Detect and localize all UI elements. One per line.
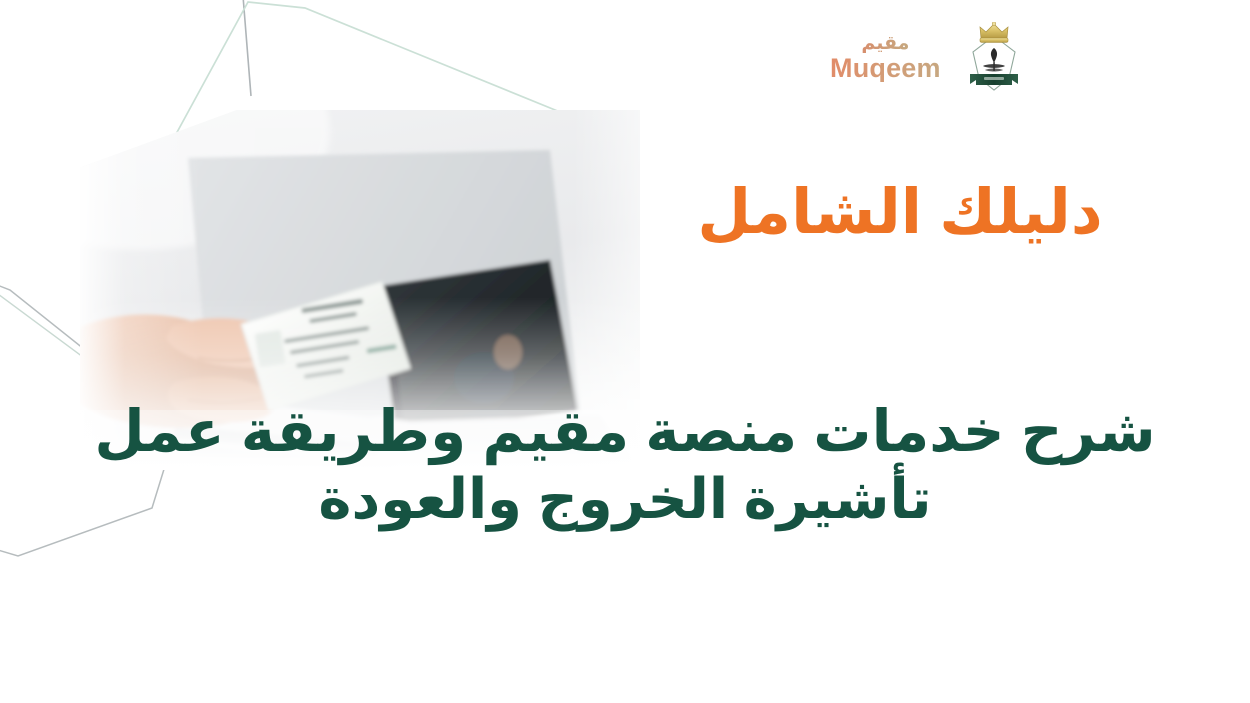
headline-green: شرح خدمات منصة مقيم وطريقة عمل تأشيرة ال…: [60, 398, 1190, 533]
thin-diagonal-line-top-left: [243, 0, 251, 96]
banner-canvas: مقيم Muqeem: [0, 0, 1250, 703]
headline-green-line-1: شرح خدمات منصة مقيم وطريقة عمل: [60, 398, 1190, 466]
saudi-passports-directorate-emblem-icon: [967, 22, 1021, 94]
muqeem-arabic-name: مقيم: [861, 34, 909, 53]
headline-green-line-2: تأشيرة الخروج والعودة: [60, 466, 1190, 532]
emblem-crown: [980, 22, 1008, 42]
muqeem-wordmark: مقيم Muqeem: [830, 34, 941, 82]
headline-orange: دليلك الشامل: [640, 178, 1160, 247]
emblem-ribbon: [970, 74, 1018, 85]
brand-logo-block: مقيم Muqeem: [830, 18, 1040, 98]
muqeem-english-name: Muqeem: [830, 55, 941, 82]
